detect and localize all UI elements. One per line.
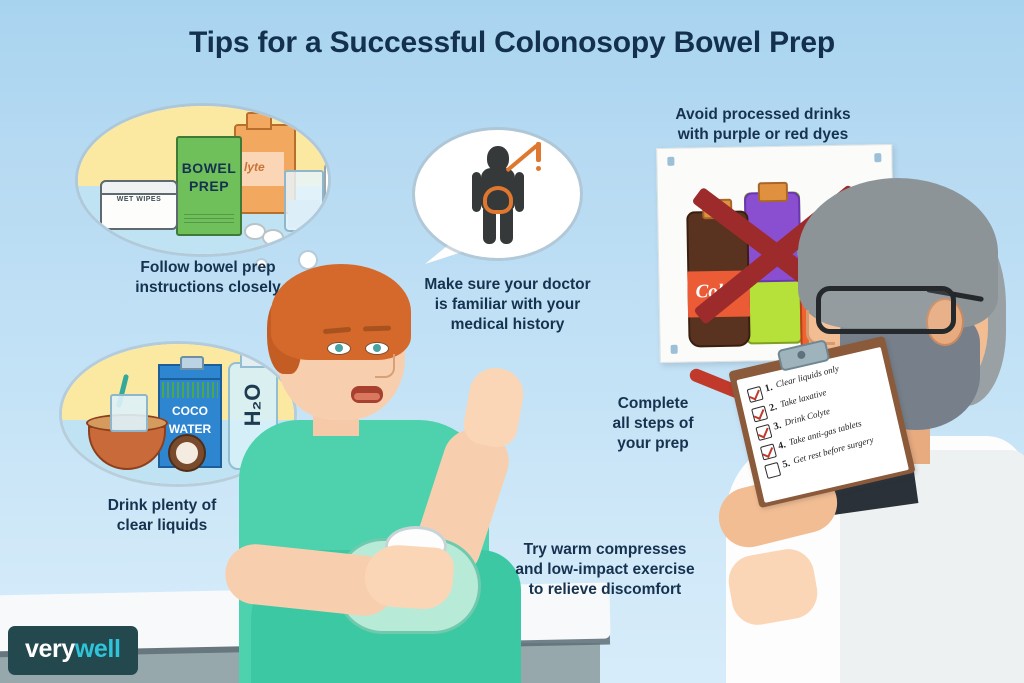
carton-cap xyxy=(180,356,204,370)
body-arm-left xyxy=(472,172,481,212)
checkbox-icon[interactable] xyxy=(760,443,777,460)
checkbox-icon[interactable] xyxy=(764,462,781,479)
checkbox-icon[interactable] xyxy=(751,405,768,422)
coconut-half xyxy=(168,434,206,472)
checkbox-icon[interactable] xyxy=(747,386,764,403)
bowel-prep-box-line2: PREP xyxy=(178,178,240,194)
body-head xyxy=(487,146,509,171)
checklist-number: 2. xyxy=(768,401,778,414)
wet-wipes-tub xyxy=(100,180,178,230)
colyte-jug-neck xyxy=(246,112,272,130)
caption-complete-steps: Complete all steps of your prep xyxy=(594,394,712,453)
patient-mouth xyxy=(351,386,383,403)
patient-figure xyxy=(215,250,545,683)
checklist-number: 4. xyxy=(777,439,787,452)
checklist-number: 5. xyxy=(781,458,791,471)
infographic-canvas: Tips for a Successful Colonosopy Bowel P… xyxy=(0,0,1024,683)
bowel-prep-box-line1: BOWEL xyxy=(178,160,240,176)
poster-pin xyxy=(667,157,674,166)
glasses-icon xyxy=(816,286,956,334)
verywell-logo[interactable]: verywell xyxy=(8,626,138,675)
checklist-number: 3. xyxy=(772,420,782,433)
caption-avoid-dyes: Avoid processed drinks with purple or re… xyxy=(652,105,874,145)
colon-highlight-icon xyxy=(483,186,513,214)
toilet-paper-roll xyxy=(324,162,328,230)
clipboard-paper: 1.Clear liquids only2.Take laxative3.Dri… xyxy=(736,347,909,503)
body-arm-right xyxy=(515,172,524,212)
glass-liquid xyxy=(288,200,320,228)
patient-eyebrow-right xyxy=(363,326,391,332)
checkbox-icon[interactable] xyxy=(755,424,772,441)
pointer-ray xyxy=(505,144,538,173)
carton-line1: COCO xyxy=(160,404,220,418)
prep-checklist: 1.Clear liquids only2.Take laxative3.Dri… xyxy=(746,356,900,482)
carton-leaf-art xyxy=(162,382,218,398)
colyte-jug-label xyxy=(238,152,284,186)
drinking-glass xyxy=(284,170,324,232)
patient-hand-raised xyxy=(461,364,528,450)
exclamation-icon xyxy=(536,142,541,162)
patient-nose xyxy=(375,354,395,378)
patient-hand-on-abdomen xyxy=(363,543,455,611)
patient-pupil-left xyxy=(335,344,343,352)
juice-cup xyxy=(110,394,148,432)
thought-bubble-prep-supplies: BOWEL PREP xyxy=(78,106,328,254)
checklist-number: 1. xyxy=(764,382,774,395)
page-title: Tips for a Successful Colonosopy Bowel P… xyxy=(0,26,1024,60)
patient-pupil-right xyxy=(373,344,381,352)
logo-part-1: very xyxy=(25,635,75,663)
bowel-prep-box-fineprint xyxy=(184,214,234,224)
tablet-icon xyxy=(262,229,284,246)
exclamation-dot-icon xyxy=(536,166,541,171)
poster-pin xyxy=(671,345,678,354)
speech-bubble-medical-history xyxy=(415,130,580,258)
caption-warm-compress: Try warm compresses and low-impact exerc… xyxy=(496,540,714,599)
human-body-icon xyxy=(470,146,526,242)
bubble-scene-prep: BOWEL PREP xyxy=(78,106,328,254)
logo-part-2: well xyxy=(75,635,121,663)
bowel-prep-box: BOWEL PREP xyxy=(176,136,242,236)
wet-wipes-lid xyxy=(100,180,178,195)
